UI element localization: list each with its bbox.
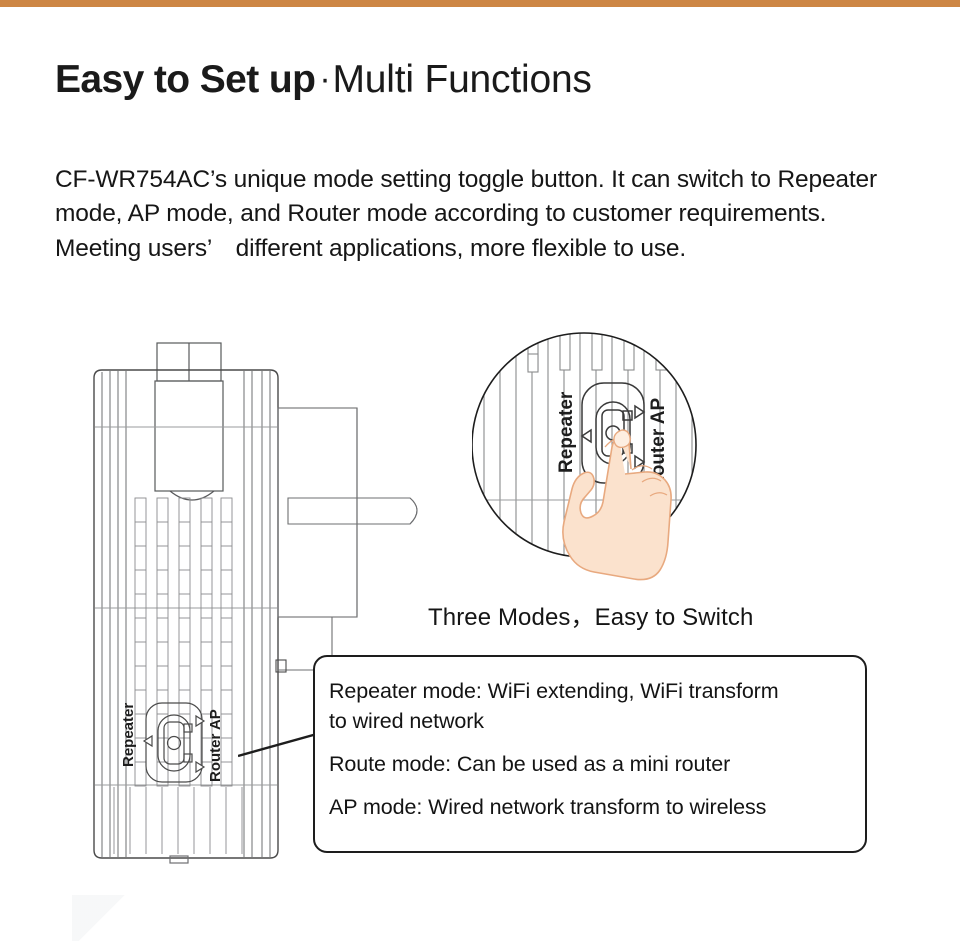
- callout-line-ap: AP mode: Wired network transform to wire…: [329, 792, 865, 822]
- magnifier-switch-label-repeater: Repeater: [556, 391, 577, 473]
- device-top-port: [155, 343, 223, 500]
- device-right-edges: [244, 371, 270, 857]
- page-title: Easy to Set up·Multi Functions: [55, 57, 592, 104]
- callout-line-repeater-b: to wired network: [329, 709, 484, 733]
- device-antenna: [288, 498, 417, 524]
- device-bottom-vents: [114, 787, 242, 854]
- callout-line-repeater-a: Repeater mode: WiFi extending, WiFi tran…: [329, 679, 779, 703]
- magnifier-caption: Three Modes，Easy to Switch: [428, 602, 753, 634]
- mode-description-callout: Repeater mode: WiFi extending, WiFi tran…: [313, 655, 867, 853]
- description-paragraph: CF-WR754AC’s unique mode setting toggle …: [55, 163, 895, 267]
- page-title-separator: ·: [315, 60, 332, 98]
- corner-watermark: [72, 895, 132, 941]
- product-feature-slide: Easy to Set up·Multi Functions CF-WR754A…: [0, 0, 960, 941]
- page-title-light: Multi Functions: [332, 58, 591, 101]
- device-mode-switch: [144, 703, 204, 782]
- magnified-detail-circle: Repeater Router AP: [472, 310, 722, 600]
- page-title-bold: Easy to Set up: [55, 58, 315, 101]
- device-switch-label-router-ap: Router AP: [207, 709, 224, 782]
- device-switch-label-repeater: Repeater: [120, 703, 137, 767]
- callout-line-route: Route mode: Can be used as a mini router: [329, 749, 865, 779]
- callout-line-repeater: Repeater mode: WiFi extending, WiFi tran…: [329, 676, 865, 736]
- top-accent-bar: [0, 0, 960, 7]
- device-left-edges: [102, 371, 126, 857]
- device-bottom-tab: [170, 856, 188, 863]
